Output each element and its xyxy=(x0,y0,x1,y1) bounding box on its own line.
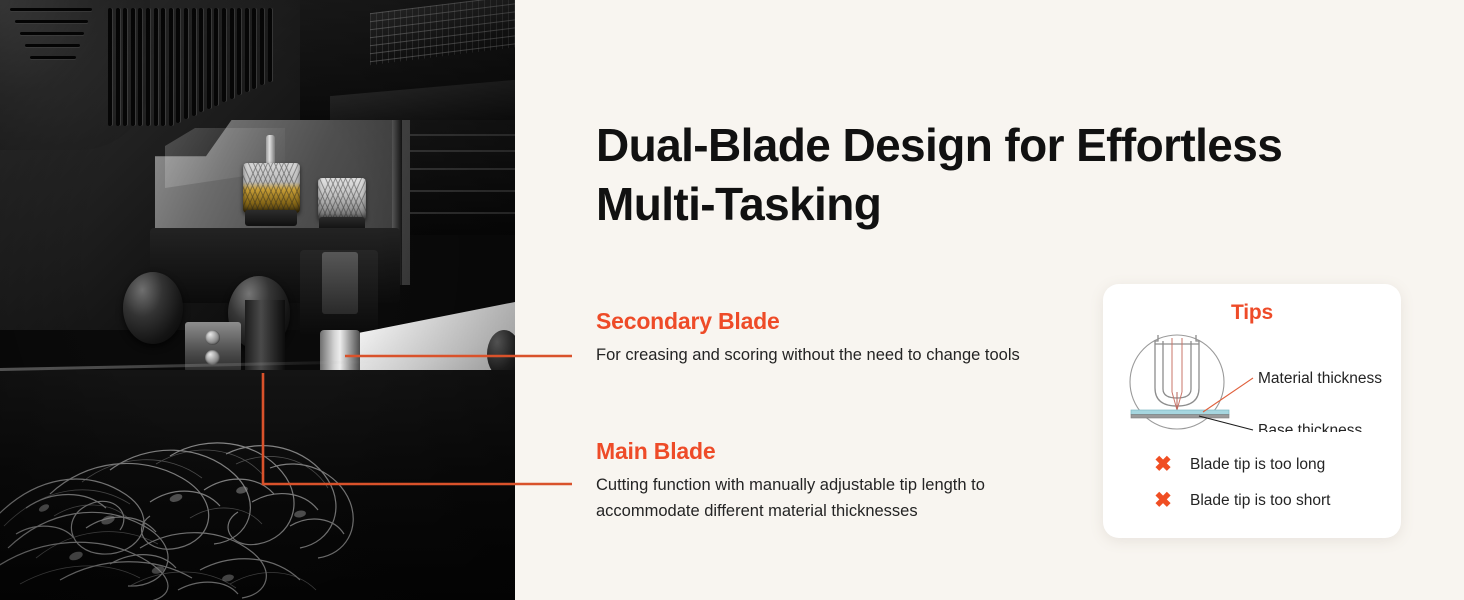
material-thickness-leader xyxy=(1203,378,1253,412)
feature-secondary-blade: Secondary Blade For creasing and scoring… xyxy=(596,308,1066,369)
cross-icon: ✖ xyxy=(1153,490,1173,511)
leader-line-main-blade xyxy=(263,373,572,484)
leader-lines xyxy=(0,0,600,600)
tip-warning-too-long: ✖ Blade tip is too long xyxy=(1153,454,1325,475)
page-title: Dual-Blade Design for Effortless Multi-T… xyxy=(596,116,1386,234)
tips-title: Tips xyxy=(1103,301,1401,325)
label-material-thickness: Material thickness xyxy=(1258,370,1382,387)
feature-desc-secondary-blade: For creasing and scoring without the nee… xyxy=(596,343,1066,369)
cross-icon: ✖ xyxy=(1153,454,1173,475)
tips-card: Tips Material thickness Base thickness ✖ xyxy=(1103,284,1401,538)
feature-main-blade: Main Blade Cutting function with manuall… xyxy=(596,438,1066,524)
feature-title-secondary-blade: Secondary Blade xyxy=(596,308,1066,335)
material-layer xyxy=(1131,410,1229,415)
base-layer xyxy=(1131,415,1229,419)
tip-warning-text: Blade tip is too long xyxy=(1190,456,1325,474)
blade-depth-diagram: Material thickness Base thickness xyxy=(1125,332,1387,432)
feature-desc-main-blade: Cutting function with manually adjustabl… xyxy=(596,473,1066,524)
label-base-thickness: Base thickness xyxy=(1258,422,1362,432)
tip-warning-too-short: ✖ Blade tip is too short xyxy=(1153,490,1330,511)
feature-title-main-blade: Main Blade xyxy=(596,438,1066,465)
tip-warning-text: Blade tip is too short xyxy=(1190,492,1330,510)
